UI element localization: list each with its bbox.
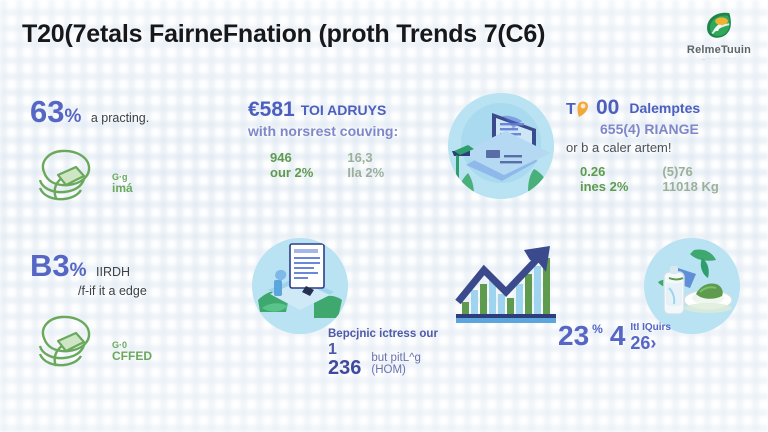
stat-number: B3 <box>30 250 70 281</box>
page-title: T20(7etals FairneFnation (proth Trends 7… <box>22 20 545 49</box>
mini-stat-value: 0.26 <box>580 165 628 180</box>
stat-percent-sign: % <box>70 260 87 281</box>
kpi-number: 23 <box>558 322 589 350</box>
lead-number: 00 <box>596 96 619 120</box>
lead-rest: TOI ADRUYS <box>301 102 387 118</box>
infographic-page: T20(7etals FairneFnation (proth Trends 7… <box>0 0 768 432</box>
stat-percent-sign: % <box>64 106 81 127</box>
lead-line-2: with norsrest couving: <box>248 123 428 139</box>
note-block-bottom-middle: Bepcjnic ictress our 1 236 but pitL^g (H… <box>328 328 478 378</box>
lead-line-3: or b a caler artem! <box>566 140 762 155</box>
stat-subcaption: /f-if it a edge <box>78 284 240 298</box>
kpi-percent-sign: % <box>592 322 603 336</box>
mini-stat: 946 our 2% <box>270 151 313 181</box>
mini-stat: 0.26 ines 2% <box>580 165 628 195</box>
note-side-2: (HOM) <box>371 364 421 376</box>
stat-caption: IIRDH <box>96 265 130 279</box>
lead-block-top-middle: €581TOI ADRUYS with norsrest couving: 94… <box>248 98 428 181</box>
mini-stat-row: 0.26 ines 2% (5)76 11018 Kg <box>580 165 762 195</box>
lead-rest: Dalemptes <box>629 100 700 116</box>
stat-number: 63 <box>30 96 64 127</box>
mini-stat: 16,3 Ila 2% <box>347 151 384 181</box>
stat-block-top-left: 63% a practing. G·g imá <box>30 96 230 202</box>
mini-stat: (5)76 11018 Kg <box>662 165 718 195</box>
growth-bar-chart <box>450 240 570 326</box>
kpi-small-line-2: 26› <box>630 334 671 353</box>
laptop-desk-illustration <box>448 93 554 199</box>
note-number-2: 236 <box>328 358 361 378</box>
note-title: Bepcjnic ictress our <box>328 328 478 340</box>
lead-line-2: 655(4) RIANGE <box>600 121 762 137</box>
brand-logo: RelmeTuuin — ··· ·· ·· · ··· · ·· <box>680 8 758 61</box>
mini-stat-label: Ila 2% <box>347 166 384 181</box>
note-number-1: 1 <box>328 342 361 358</box>
stat-block-bottom-left: B3% IIRDH /f-if it a edge G·0 CFFED <box>30 250 240 370</box>
lead-block-top-right: T 00Dalemptes 655(4) RIANGE or b a caler… <box>566 96 762 195</box>
logo-name: RelmeTuuin <box>680 44 758 56</box>
mini-stat-value: 16,3 <box>347 151 384 166</box>
leaf-logo-icon <box>702 8 736 42</box>
kpi-number-2: 4 <box>610 322 626 350</box>
note-side-1: but pitL^g <box>371 352 421 364</box>
stacked-leaf-book-icon <box>30 142 108 202</box>
icon-label-line2: CFFED <box>112 350 152 364</box>
mini-stat-row: 946 our 2% 16,3 Ila 2% <box>270 151 428 181</box>
svg-text:T: T <box>566 101 576 118</box>
bottle-plate-illustration <box>644 238 740 334</box>
stat-caption: a practing. <box>91 111 149 125</box>
growth-chart-graphic <box>450 240 570 326</box>
mini-stat-label: ines 2% <box>580 180 628 195</box>
document-computer-graphic <box>252 238 348 334</box>
t-orange-badge-icon: T <box>566 98 592 118</box>
document-computer-illustration <box>252 238 348 334</box>
mini-stat-label: 11018 Kg <box>662 180 718 195</box>
lead-number: €581 <box>248 98 295 122</box>
mini-stat-label: our 2% <box>270 166 313 181</box>
kpi-small-line-1: ItI IQuirs <box>630 323 671 334</box>
kpi-block-bottom-right: 23% 4 ItI IQuirs 26› <box>558 322 688 352</box>
mini-stat-value: 946 <box>270 151 313 166</box>
stacked-leaf-book-icon <box>30 308 108 370</box>
mini-stat-value: (5)76 <box>662 165 718 180</box>
logo-tagline: — ··· ·· ·· · ··· · ·· <box>680 57 758 61</box>
icon-label-line2: imá <box>112 182 133 196</box>
header: T20(7etals FairneFnation (proth Trends 7… <box>0 0 768 78</box>
laptop-desk-graphic <box>448 93 554 199</box>
bottle-plate-graphic <box>644 238 740 334</box>
